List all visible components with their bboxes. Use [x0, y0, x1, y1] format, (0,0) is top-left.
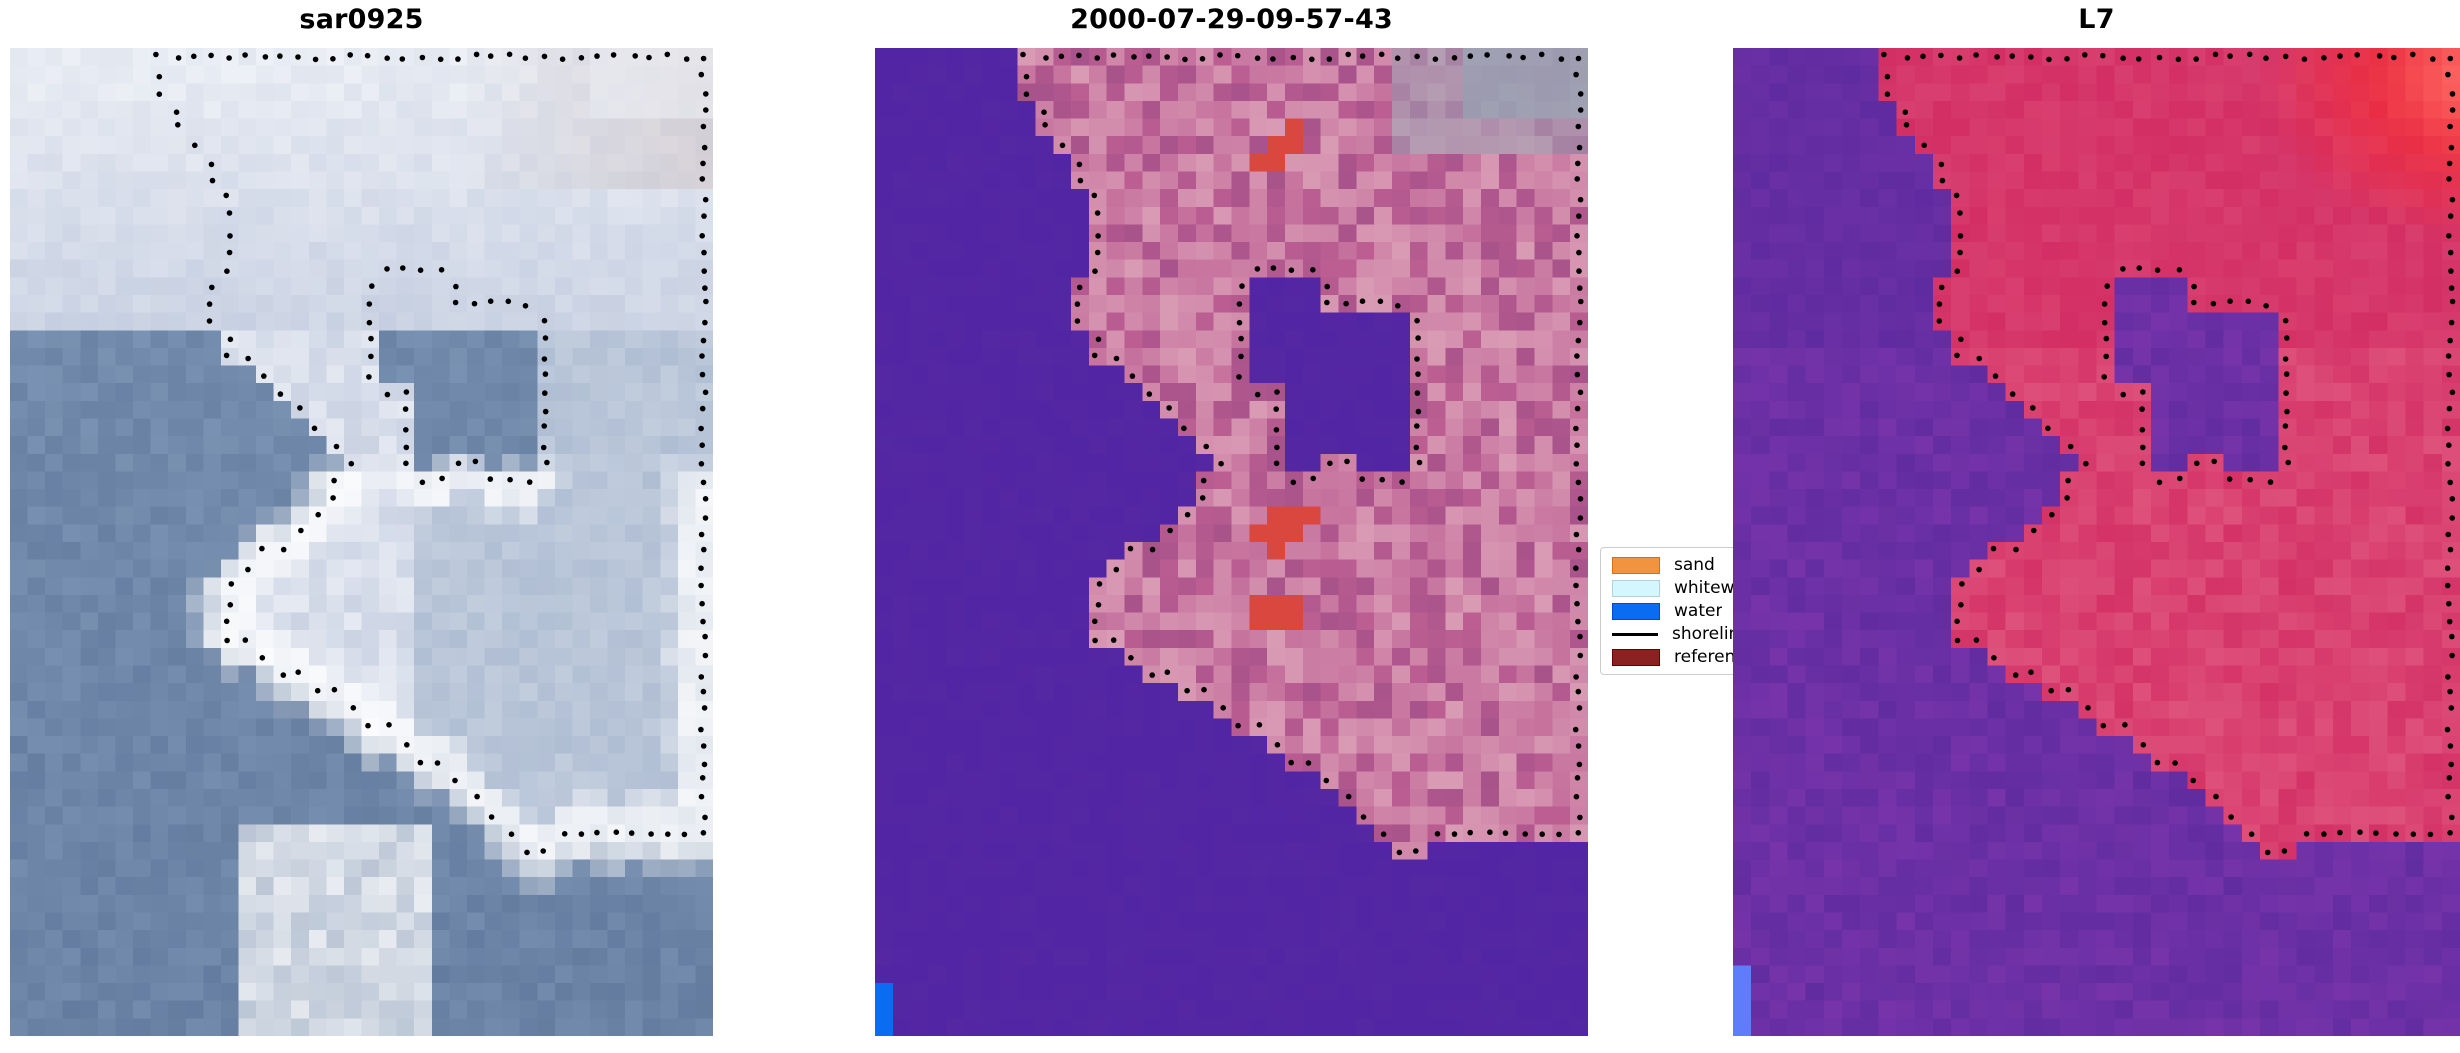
- legend-swatch-sand-icon: [1612, 557, 1660, 574]
- legend-label-sand: sand: [1674, 557, 1715, 574]
- shoreline-overlay-l7: [1733, 48, 2460, 1036]
- legend-swatch-whitewater-icon: [1612, 580, 1660, 597]
- shoreline-overlay-classified: [875, 48, 1588, 1036]
- panel-title-classified: 2000-07-29-09-57-43: [875, 4, 1588, 35]
- panel-title-l7: L7: [1733, 4, 2460, 35]
- panel-l7-image[interactable]: [1733, 48, 2460, 1036]
- panel-title-sar: sar0925: [10, 4, 713, 35]
- panel-classified-image[interactable]: [875, 48, 1588, 1036]
- legend-label-water: water: [1674, 603, 1722, 620]
- shoreline-overlay-sar: [10, 48, 713, 1036]
- legend-swatch-water-icon: [1612, 603, 1660, 620]
- legend-swatch-shoreline-icon: [1612, 633, 1658, 636]
- panel-sar-image[interactable]: [10, 48, 713, 1036]
- legend-swatch-reference-icon: [1612, 649, 1660, 666]
- figure-canvas: sar0925 2000-07-29-09-57-43 sandwhitewat…: [0, 0, 2460, 1053]
